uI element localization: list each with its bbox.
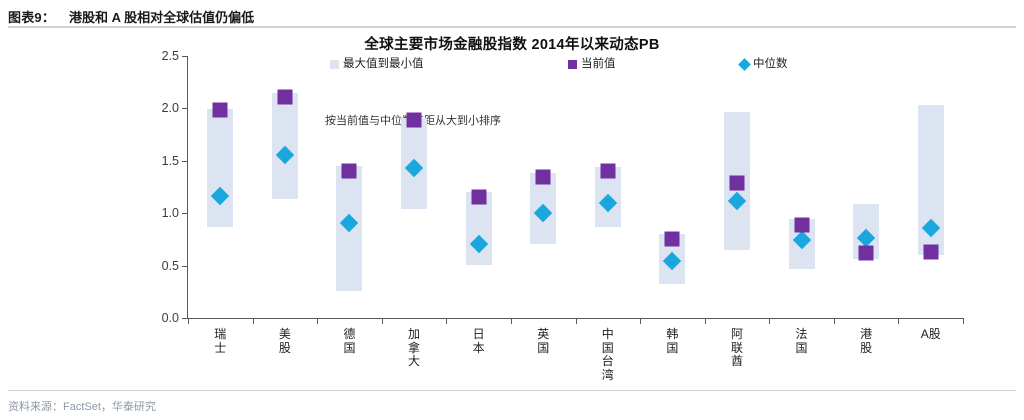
exhibit-label: 图表9： — [8, 7, 55, 26]
current-value-marker — [471, 190, 486, 205]
y-axis-line — [187, 56, 188, 319]
exhibit-title: 港股和 A 股相对全球估值仍偏低 — [69, 7, 254, 26]
x-axis-tick — [382, 318, 383, 324]
current-value-marker — [794, 217, 809, 232]
current-value-marker — [729, 175, 744, 190]
footer-divider — [8, 390, 1016, 391]
x-axis-category-label: 德国 — [338, 328, 360, 355]
x-axis-tick — [446, 318, 447, 324]
x-axis-tick — [576, 318, 577, 324]
x-axis-category-label: 英国 — [532, 328, 554, 355]
current-value-marker — [859, 246, 874, 261]
x-axis-category-label: A股 — [920, 328, 942, 342]
plot-area: 0.00.51.01.52.02.5瑞士美股德国加拿大日本英国中国台湾韩国阿联酋… — [188, 56, 963, 318]
y-axis-tick — [182, 266, 188, 267]
x-axis-category-label: 中国台湾 — [597, 328, 619, 382]
y-axis-tick — [182, 213, 188, 214]
y-axis-label: 2.5 — [162, 49, 179, 63]
y-axis-label: 2.0 — [162, 101, 179, 115]
current-value-marker — [277, 89, 292, 104]
current-value-marker — [600, 164, 615, 179]
x-axis-tick — [898, 318, 899, 324]
x-axis-tick — [511, 318, 512, 324]
x-axis-category-label: 韩国 — [661, 328, 683, 355]
x-axis-category-label: 法国 — [791, 328, 813, 355]
chart-title: 全球主要市场金融股指数 2014年以来动态PB — [0, 33, 1024, 54]
x-axis-tick — [253, 318, 254, 324]
x-axis-tick — [317, 318, 318, 324]
x-axis-category-label: 港股 — [855, 328, 877, 355]
y-axis-label: 0.5 — [162, 259, 179, 273]
current-value-marker — [407, 112, 422, 127]
y-axis-label: 1.5 — [162, 154, 179, 168]
current-value-marker — [536, 169, 551, 184]
chart-container: 全球主要市场金融股指数 2014年以来动态PB 最大值到最小值 当前值 中位数 … — [0, 28, 1024, 388]
exhibit-header: 图表9： 港股和 A 股相对全球估值仍偏低 — [8, 4, 1016, 28]
y-axis-label: 1.0 — [162, 206, 179, 220]
x-axis-tick — [705, 318, 706, 324]
source-note: 资料来源：FactSet，华泰研究 — [8, 398, 156, 414]
current-value-marker — [923, 244, 938, 259]
x-axis-category-label: 加拿大 — [403, 328, 425, 369]
current-value-marker — [342, 164, 357, 179]
y-axis-tick — [182, 56, 188, 57]
x-axis-category-label: 美股 — [274, 328, 296, 355]
x-axis-tick — [640, 318, 641, 324]
exhibit-page: 图表9： 港股和 A 股相对全球估值仍偏低 全球主要市场金融股指数 2014年以… — [0, 0, 1024, 420]
y-axis-label: 0.0 — [162, 311, 179, 325]
current-value-marker — [213, 103, 228, 118]
x-axis-tick — [834, 318, 835, 324]
y-axis-tick — [182, 108, 188, 109]
range-bar — [207, 109, 233, 226]
x-axis-category-label: 瑞士 — [209, 328, 231, 355]
x-axis-tick — [769, 318, 770, 324]
x-axis-tick — [188, 318, 189, 324]
current-value-marker — [665, 232, 680, 247]
x-axis-category-label: 日本 — [468, 328, 490, 355]
y-axis-tick — [182, 161, 188, 162]
x-axis-category-label: 阿联酋 — [726, 328, 748, 369]
x-axis-tick — [963, 318, 964, 324]
